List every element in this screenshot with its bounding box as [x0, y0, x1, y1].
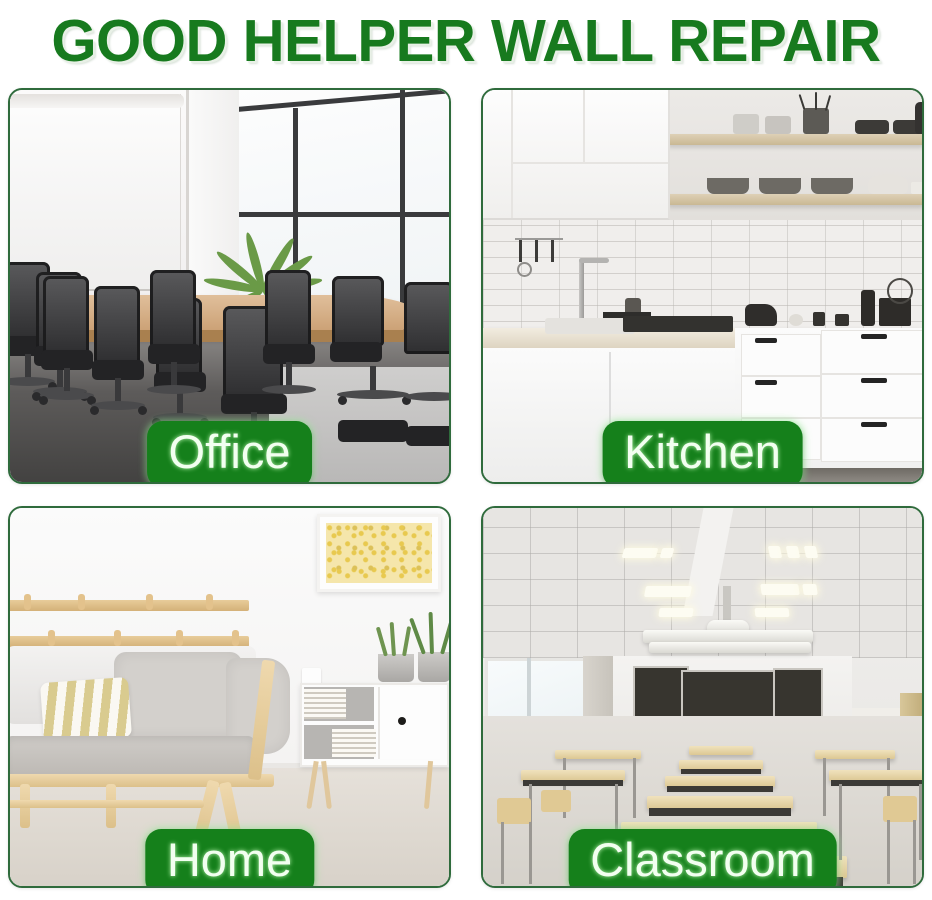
kitchen-cup [911, 182, 922, 194]
kitchen-floating-shelf [668, 194, 922, 205]
home-rail-hook [24, 594, 31, 610]
badge-office-label: Office [169, 425, 291, 478]
kitchen-white-bowl [868, 174, 908, 194]
kitchen-bottle [861, 290, 875, 326]
kitchen-teapot-counter [745, 304, 777, 326]
home-sofa-stretcher [10, 800, 204, 808]
panel-office[interactable]: Office [8, 88, 451, 484]
badge-classroom-label: Classroom [590, 833, 815, 886]
classroom-chair-leg [529, 822, 532, 884]
home-shelf-unit [300, 683, 449, 767]
classroom-desk-side [667, 786, 773, 792]
kitchen-drawer-handle [861, 378, 887, 383]
home-shelf-knob [398, 717, 406, 725]
badge-kitchen-label: Kitchen [624, 425, 781, 478]
classroom-chair [883, 796, 917, 822]
office-blind-roller [10, 94, 184, 108]
panel-classroom[interactable]: Classroom [481, 506, 924, 888]
home-striped-pillow [40, 677, 132, 743]
home-sofa-cushion [114, 652, 242, 738]
classroom-ceiling-light [802, 584, 818, 595]
kitchen-stacked-plates [811, 178, 853, 194]
classroom-ceiling-light [768, 546, 783, 558]
badge-kitchen[interactable]: Kitchen [602, 421, 803, 484]
classroom-desk-leg [839, 784, 842, 860]
classroom-fluorescent-fixture [649, 642, 811, 653]
kitchen-utensil [815, 92, 817, 110]
kitchen-container [835, 314, 849, 326]
classroom-ceiling-light [644, 586, 692, 597]
kitchen-sink [545, 318, 635, 334]
classroom-desk-side [831, 780, 922, 786]
kitchen-teapot [915, 102, 922, 134]
classroom-ceiling-light [622, 548, 659, 558]
panel-kitchen[interactable]: Kitchen [481, 88, 924, 484]
page-title: GOOD HELPER WALL REPAIR [51, 11, 880, 71]
kitchen-hanging-knife [551, 240, 554, 262]
kitchen-stacked-plates [707, 178, 749, 194]
kitchen-drawer-handle [861, 334, 887, 339]
kitchen-faucet [579, 258, 584, 326]
home-rail-hook [48, 630, 55, 646]
home-wall-art-frame [317, 514, 441, 592]
home-rail-hook [78, 594, 85, 610]
panel-grid: Office [8, 88, 924, 888]
kitchen-hanging-pan [517, 262, 532, 277]
home-rail-hook [206, 594, 213, 610]
kitchen-floating-shelf [668, 134, 922, 145]
kitchen-drawer-handle [861, 422, 887, 427]
home-plant-pot [418, 652, 449, 682]
kitchen-drawer-handle [755, 338, 777, 343]
panel-home[interactable]: Home [8, 506, 451, 888]
office-window-mullion [228, 212, 449, 217]
kitchen-stovetop [623, 316, 733, 332]
classroom-desk-side [523, 780, 623, 786]
kitchen-faucet-spout [579, 258, 609, 263]
classroom-ceiling-light [804, 546, 819, 558]
kitchen-cabinet-seam [511, 162, 668, 164]
home-sofa-frame [10, 774, 274, 787]
classroom-desk-left [555, 750, 641, 759]
classroom-desk-leg [633, 758, 636, 818]
classroom-chair-leg [887, 820, 890, 884]
kitchen-hanging-knife [519, 240, 522, 262]
badge-classroom[interactable]: Classroom [568, 829, 837, 888]
kitchen-cabinet-seam [583, 90, 585, 162]
classroom-desk-leg [823, 758, 826, 816]
classroom-desk-leg [919, 784, 922, 860]
badge-home[interactable]: Home [145, 829, 314, 888]
home-rail-hook [232, 630, 239, 646]
kitchen-bowl [855, 120, 889, 134]
home-shelf-books [304, 689, 346, 719]
home-shelf-books [332, 729, 376, 757]
kitchen-utensil-holder [803, 108, 829, 134]
badge-office[interactable]: Office [147, 421, 313, 484]
classroom-chair [497, 798, 531, 824]
classroom-desk-right [815, 750, 895, 759]
home-rail-hook [146, 594, 153, 610]
classroom-ceiling-light [786, 546, 801, 558]
kitchen-hanging-knife [535, 240, 538, 262]
classroom-chair [541, 790, 571, 812]
kitchen-drawer [741, 376, 821, 418]
kitchen-utensil-rail [515, 238, 563, 240]
page-title-bar: GOOD HELPER WALL REPAIR [0, 0, 932, 82]
kitchen-drawer-handle [755, 380, 777, 385]
home-rail-hook [114, 630, 121, 646]
kitchen-cabinet-seam [511, 90, 513, 218]
classroom-desk [689, 746, 753, 755]
home-shelf-door [378, 687, 440, 759]
kitchen-drawer [741, 334, 821, 376]
kitchen-small-bowl [789, 314, 803, 326]
home-rail-hook [176, 630, 183, 646]
classroom-chair-leg [501, 822, 504, 884]
kitchen-container [813, 312, 825, 326]
badge-home-label: Home [167, 833, 292, 886]
kitchen-pan-hanging [887, 278, 913, 304]
classroom-desk-side [681, 769, 761, 774]
home-plant-pot [378, 654, 414, 682]
home-sofa-seat [10, 736, 254, 778]
classroom-desk-side [649, 808, 791, 816]
home-wall-rail [10, 600, 249, 611]
kitchen-jar [765, 116, 791, 134]
classroom-chair-leg [913, 820, 916, 884]
classroom-ceiling-light [760, 584, 800, 595]
home-wall-art [326, 523, 432, 583]
kitchen-stacked-plates [759, 178, 801, 194]
kitchen-jar [733, 114, 759, 134]
classroom-ceiling-light [658, 608, 693, 617]
classroom-ceiling-light [755, 608, 790, 617]
